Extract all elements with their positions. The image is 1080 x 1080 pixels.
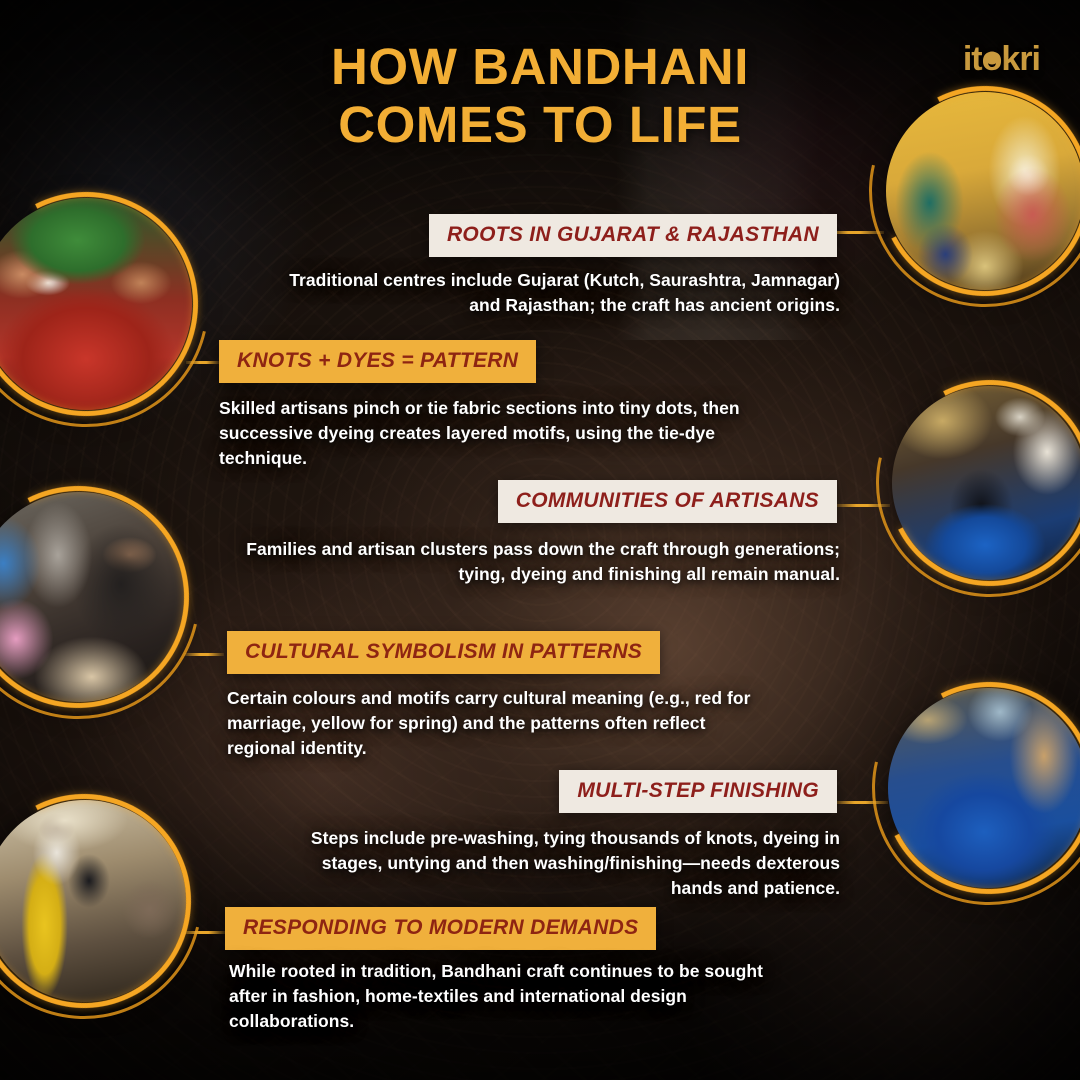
photo-hands-tying-red-fabric	[0, 198, 192, 410]
title-line-1: HOW BANDHANI	[331, 38, 749, 95]
connector-line-finishing	[832, 801, 888, 804]
section-body-symbolism: Certain colours and motifs carry cultura…	[227, 686, 767, 761]
section-body-roots: Traditional centres include Gujarat (Kut…	[265, 268, 840, 318]
photo-man-lifting-yellow-fabric	[0, 800, 186, 1002]
section-body-finishing: Steps include pre-washing, tying thousan…	[270, 826, 840, 901]
section-label-symbolism[interactable]: CULTURAL SYMBOLISM IN PATTERNS	[227, 631, 660, 674]
photo-women-knotting-cloth	[0, 492, 184, 702]
photo-dyer-at-blue-vat	[892, 386, 1080, 580]
photo-blue-dye-vat	[888, 688, 1080, 888]
logo-dot-glyph-icon: o	[982, 42, 1002, 76]
section-label-communities[interactable]: COMMUNITIES OF ARTISANS	[498, 480, 837, 523]
section-body-communities: Families and artisan clusters pass down …	[240, 537, 840, 587]
section-body-knots-dyes: Skilled artisans pinch or tie fabric sec…	[219, 396, 759, 471]
connector-line-symbolism	[184, 653, 224, 656]
infographic-poster: HOW BANDHANI COMES TO LIFE itokri ROOTS …	[0, 0, 1080, 1080]
section-label-modern-demands[interactable]: RESPONDING TO MODERN DEMANDS	[225, 907, 656, 950]
title-line-2: COMES TO LIFE	[0, 96, 1080, 154]
logo-text-suffix: kri	[1001, 42, 1040, 76]
section-label-finishing[interactable]: MULTI-STEP FINISHING	[559, 770, 837, 813]
section-body-modern-demands: While rooted in tradition, Bandhani craf…	[229, 959, 789, 1034]
poster-title: HOW BANDHANI COMES TO LIFE	[0, 38, 1080, 154]
connector-line-modern-demands	[182, 931, 226, 934]
itokri-logo[interactable]: itokri	[963, 42, 1040, 76]
connector-line-knots-dyes	[186, 361, 220, 364]
section-label-roots[interactable]: ROOTS IN GUJARAT & RAJASTHAN	[429, 214, 837, 257]
section-label-knots-dyes[interactable]: KNOTS + DYES = PATTERN	[219, 340, 536, 383]
connector-line-communities	[834, 504, 890, 507]
logo-text-prefix: it	[963, 42, 982, 76]
